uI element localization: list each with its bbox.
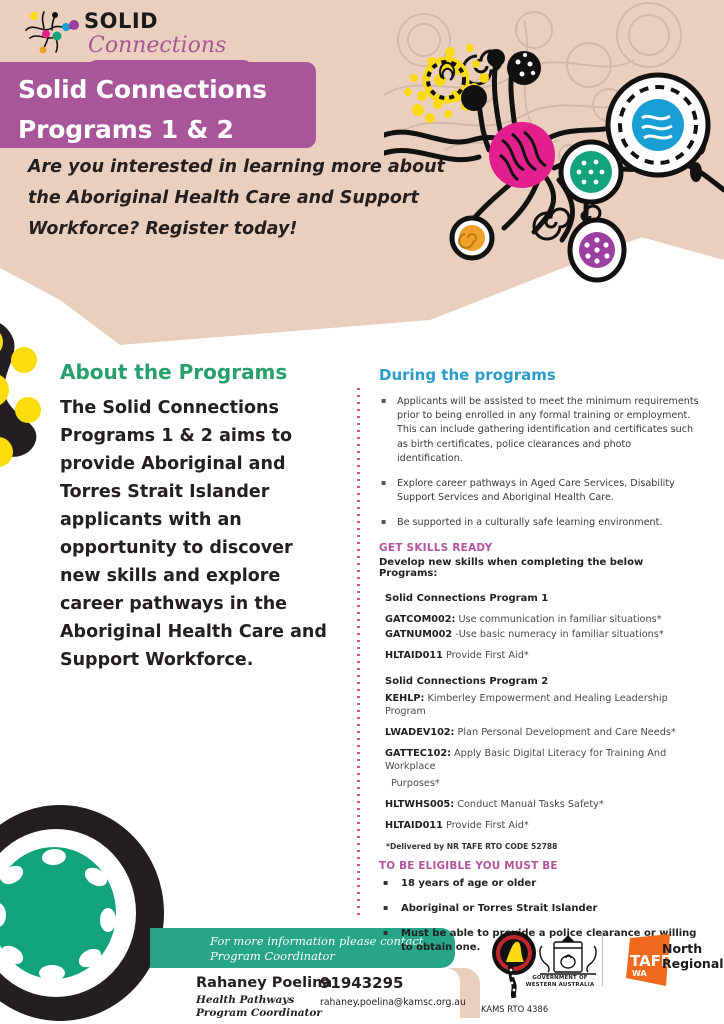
logo-artwork-icon [22,8,84,56]
dotted-divider [357,388,360,918]
tafe-line-2: Regional [662,956,724,971]
unit-desc: Use communication in familiar situations… [455,614,661,625]
unit-desc: Provide First Aid* [443,820,529,831]
logo-separator [602,930,603,986]
solid-connections-logo: SOLIDConnections Connect, Learn, Grow [22,6,254,58]
list-item: 18 years of age or older [379,877,699,891]
unit-desc: Provide First Aid* [443,650,529,661]
unit-desc-continued: Purposes* [391,777,699,790]
program-1-title: Solid Connections Program 1 [385,593,699,604]
contact-details-bar: Rahaney Poelina 91943295 Health Pathways… [150,968,480,1018]
tafe-name: North Regional [662,941,724,971]
title-banner: Solid Connections Programs 1 & 2 [0,62,316,148]
program-2-title: Solid Connections Program 2 [385,676,699,687]
list-item: Applicants will be assisted to meet the … [379,395,699,466]
subtitle-text: Are you interested in learning more abou… [28,152,468,245]
list-item: Explore career pathways in Aged Care Ser… [379,477,699,505]
wa-government-crest-icon [540,936,596,974]
list-item: Aboriginal or Torres Strait Islander [379,902,699,916]
about-heading: About the Programs [60,360,330,384]
coordinator-role-line-1: Health Pathways [196,994,294,1006]
poster-page: SOLIDConnections Connect, Learn, Grow So… [0,0,724,1024]
kams-rto-text: KAMS RTO 4386 [481,1004,548,1014]
unit-desc: Plan Personal Development and Care Needs… [454,727,675,738]
during-programs-list: Applicants will be assisted to meet the … [379,395,699,531]
unit-code: HLTWHS005: [385,799,454,810]
program-2-unit-2: GATTEC102: Apply Basic Digital Literacy … [385,747,699,790]
program-2-unit-1: LWADEV102: Plan Personal Development and… [385,726,699,739]
unit-code: HLTAID011 [385,820,443,831]
program-2-unit-4: HLTAID011 Provide First Aid* [385,819,699,832]
logo-solid-text: SOLID [84,9,158,33]
get-skills-subheading: Develop new skills when completing the b… [379,557,699,579]
get-skills-ready-heading: GET SKILLS READY [379,542,699,554]
list-item: Be supported in a culturally safe learni… [379,516,699,530]
coordinator-role-line-2: Program Coordinator [196,1007,322,1019]
logo-connections-text: Connections [88,33,226,58]
program-2-unit-0: KEHLP: Kimberley Empowerment and Healing… [385,692,699,718]
during-programs-heading: During the programs [379,366,699,384]
about-body-text: The Solid Connections Programs 1 & 2 aim… [60,394,330,674]
unit-code: GATTEC102: [385,748,451,759]
unit-desc: Conduct Manual Tasks Safety* [454,799,604,810]
program-1-unit-2: HLTAID011 Provide First Aid* [385,649,699,662]
tafe-line-1: North [662,941,702,956]
programs-section: During the programs Applicants will be a… [379,366,699,966]
delivered-by-note: *Delivered by NR TAFE RTO CODE 52788 [386,842,699,851]
gov-caption-line-2: WESTERN AUSTRALIA [526,982,595,988]
coordinator-phone[interactable]: 91943295 [320,974,404,992]
unit-desc: -Use basic numeracy in familiar situatio… [452,629,664,640]
contact-details-inner: Rahaney Poelina 91943295 Health Pathways… [150,968,460,1018]
coordinator-email[interactable]: rahaney.poelina@kamsc.org.au [320,997,466,1008]
unit-code: LWADEV102: [385,727,454,738]
title-line-2: Programs 1 & 2 [18,110,316,150]
unit-code: GATNUM002 [385,629,452,640]
program-2-unit-3: HLTWHS005: Conduct Manual Tasks Safety* [385,798,699,811]
unit-code: GATCOM002: [385,614,455,625]
unit-code: KEHLP: [385,693,424,704]
coordinator-name: Rahaney Poelina [196,975,332,991]
program-1-unit-1: GATNUM002 -Use basic numeracy in familia… [385,628,699,641]
coordinator-role: Health Pathways Program Coordinator [196,994,322,1020]
eligibility-heading: TO BE ELIGIBLE YOU MUST BE [379,860,699,872]
about-section: About the Programs The Solid Connections… [60,360,330,674]
gov-caption-line-1: GOVERNMENT OF [532,975,587,981]
program-1-unit-0: GATCOM002: Use communication in familiar… [385,613,699,626]
gov-caption: GOVERNMENT OF WESTERN AUSTRALIA [521,975,599,989]
title-line-1: Solid Connections [18,70,316,110]
svg-text:WA: WA [632,969,647,978]
unit-desc: Kimberley Empowerment and Healing Leader… [385,693,668,717]
unit-code: HLTAID011 [385,650,443,661]
